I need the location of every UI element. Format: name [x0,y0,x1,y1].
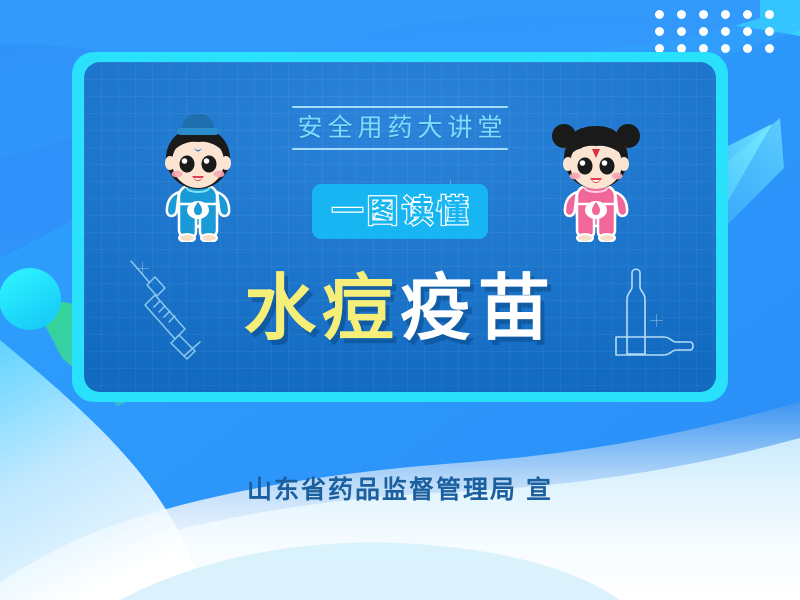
publisher-credit: 山东省药品监督管理局 宣 [0,473,800,507]
eyebrow-label: 安全用药大讲堂 [0,108,800,148]
page-title-plain: 疫苗 [400,268,556,350]
eyebrow-block: 安全用药大讲堂 [0,106,800,150]
read-at-a-glance-badge: 一图读懂 [312,184,488,239]
badge-label: 一图读懂 [328,196,472,227]
eyebrow-rule-bottom [292,148,508,150]
poster-canvas: 安全用药大讲堂 一图读懂 水痘疫苗 山东省药品监督管理局 宣 [0,0,800,600]
page-title: 水痘疫苗 [0,268,800,350]
page-title-highlight: 水痘 [244,268,400,350]
